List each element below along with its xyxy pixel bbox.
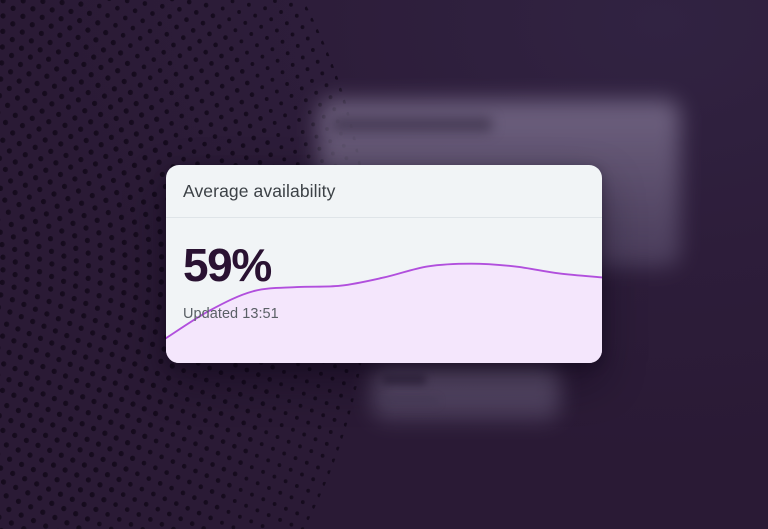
card-header: Average availability	[166, 165, 602, 217]
screen-background: Average availability 59% Updated 13:51	[0, 0, 768, 529]
blurred-card-bottom-subtitle	[382, 398, 438, 405]
average-availability-card[interactable]: Average availability 59% Updated 13:51	[166, 165, 602, 363]
card-header-divider	[166, 217, 602, 218]
card-title: Average availability	[183, 181, 335, 202]
blurred-card-top-title	[332, 117, 492, 132]
blurred-card-bottom-title	[382, 374, 426, 385]
chart-area-fill	[166, 264, 602, 363]
